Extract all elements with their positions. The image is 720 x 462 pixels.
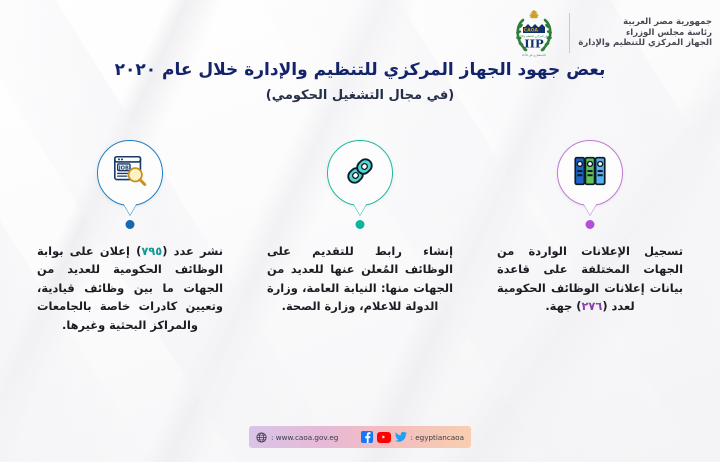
footer-social: : egyptiancaoa (361, 431, 464, 443)
bubble-tail (123, 203, 137, 215)
facebook-icon[interactable] (361, 431, 373, 443)
youtube-icon[interactable] (377, 432, 391, 443)
pin-marker-jobs-portal: JOB (91, 140, 169, 236)
header-line-agency: الجهاز المركزي للتنظيم والإدارة (578, 38, 712, 49)
header: جمهورية مصر العربية رئاسة مجلس الوزراء ا… (507, 6, 712, 60)
header-line-country: جمهورية مصر العربية (578, 17, 712, 28)
twitter-icon[interactable] (395, 431, 407, 443)
column-text-application-link: إنشاء رابط للتقديم على الوظائف المُعلن ع… (267, 242, 453, 316)
footer-bar: : www.caoa.gov.eg : egyptiancaoa (249, 426, 471, 448)
accent-dot-ads-database (586, 220, 595, 229)
svg-text:CAOA: CAOA (524, 28, 539, 34)
count-value-entities: ٢٧٦ (581, 299, 602, 313)
text-segment: ) جهة. (545, 299, 581, 313)
column-application-link: إنشاء رابط للتقديم على الوظائف المُعلن ع… (262, 140, 458, 316)
infographic-poster: جمهورية مصر العربية رئاسة مجلس الوزراء ا… (0, 0, 720, 462)
svg-text:IIP: IIP (525, 37, 545, 51)
icon-bubble-jobs-portal: JOB (97, 140, 163, 206)
column-text-jobs-portal: نشر عدد (٧٩٥) إعلان على بوابة الوظائف ال… (37, 242, 223, 334)
icon-bubble-application-link (327, 140, 393, 206)
archive-binders-icon (571, 152, 609, 194)
text-segment: نشر عدد ( (162, 244, 223, 258)
header-line-cabinet: رئاسة مجلس الوزراء (578, 28, 712, 39)
website-url: : www.caoa.gov.eg (271, 433, 338, 442)
header-divider (569, 13, 570, 53)
accent-dot-jobs-portal (126, 220, 135, 229)
job-search-icon: JOB (111, 152, 149, 194)
bubble-tail (353, 203, 367, 215)
social-handle: : egyptiancaoa (411, 433, 464, 442)
column-text-ads-database: تسجيل الإعلانات الواردة من الجهات المختل… (497, 242, 683, 316)
column-jobs-portal: JOB نشر عدد (٧٩٥) إعلان على بوابة الوظائ… (32, 140, 228, 334)
header-organization-lines: جمهورية مصر العربية رئاسة مجلس الوزراء ا… (578, 17, 712, 50)
text-segment: إنشاء رابط للتقديم على الوظائف المُعلن ع… (267, 244, 453, 313)
icon-bubble-ads-database (557, 140, 623, 206)
accent-dot-application-link (356, 220, 365, 229)
pin-marker-ads-database (551, 140, 629, 236)
content-columns: JOB نشر عدد (٧٩٥) إعلان على بوابة الوظائ… (0, 140, 720, 334)
caoa-iip-logo: CAOA الجهاز المركزي للتنظيم والإدارة IIP… (507, 6, 561, 60)
footer-website[interactable]: : www.caoa.gov.eg (256, 428, 338, 447)
count-value-announcements: ٧٩٥ (141, 244, 162, 258)
column-ads-database: تسجيل الإعلانات الواردة من الجهات المختل… (492, 140, 688, 316)
pin-marker-application-link (321, 140, 399, 236)
svg-text:JOB: JOB (118, 165, 129, 171)
svg-text:الاستشاري في الأداء: الاستشاري في الأداء (523, 53, 547, 57)
page-subtitle: (في مجال التشغيل الحكومي) (0, 88, 720, 103)
bubble-tail (583, 203, 597, 215)
globe-icon (256, 428, 267, 447)
page-title: بعض جهود الجهاز المركزي للتنظيم والإدارة… (0, 60, 720, 80)
chain-link-icon (342, 153, 378, 193)
